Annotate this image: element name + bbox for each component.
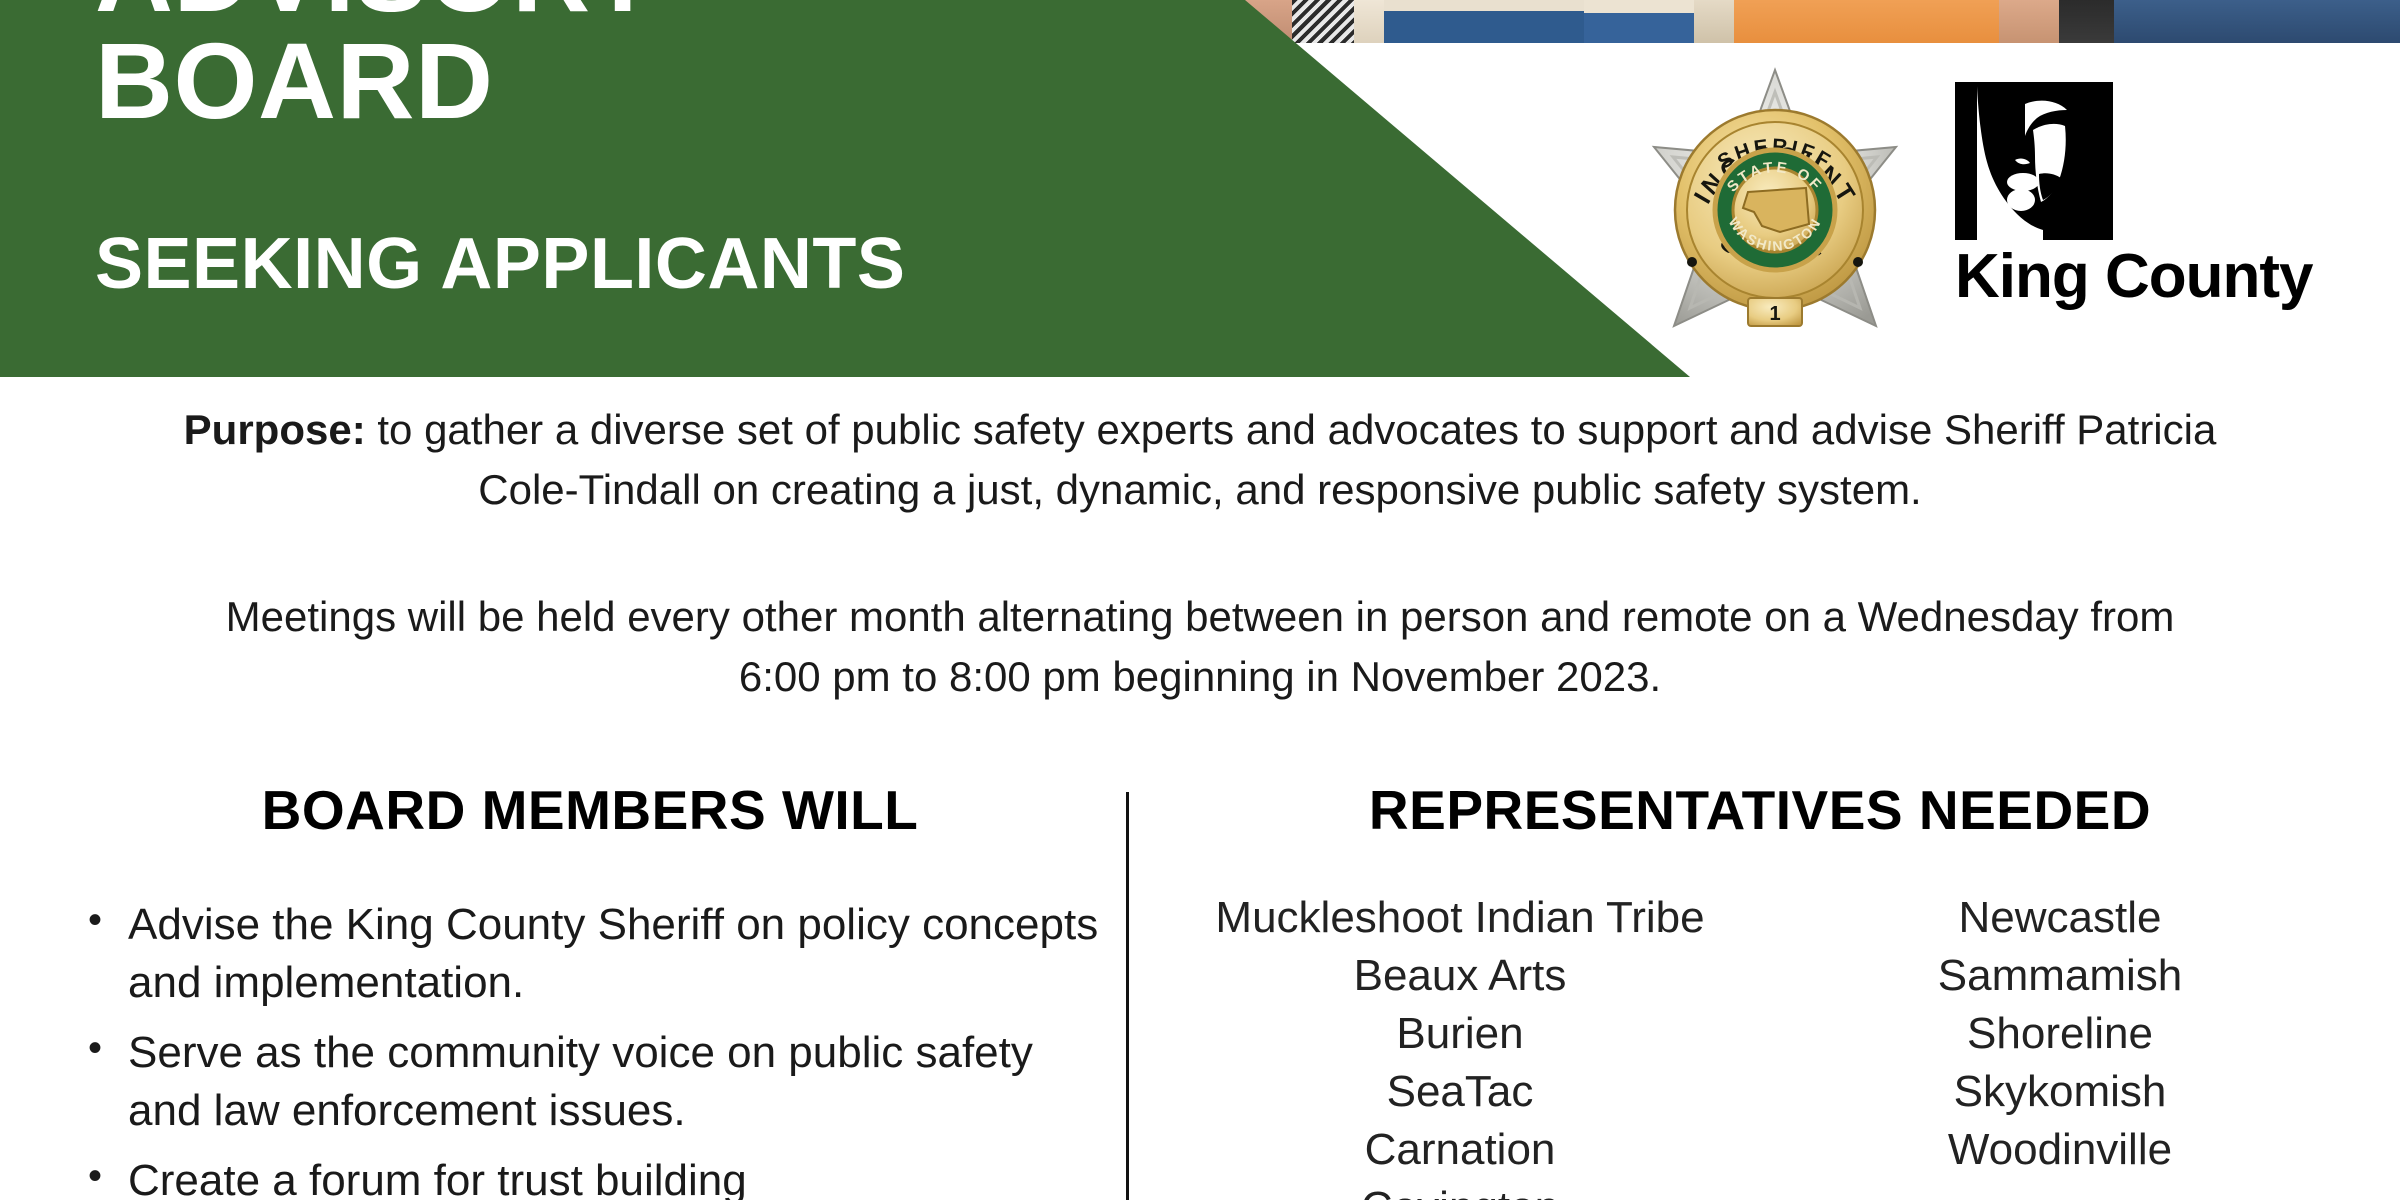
list-item: SeaTac — [1160, 1063, 1760, 1121]
list-item: Shoreline — [1760, 1005, 2360, 1063]
photo-segment — [1354, 0, 1384, 43]
photo-segment — [1584, 0, 1694, 43]
list-item: Sammamish — [1760, 947, 2360, 1005]
meeting-paragraph: Meetings will be held every other month … — [200, 587, 2200, 706]
photo-segment — [1999, 0, 2059, 43]
banner-heading-group: ADVISORY BOARD SEEKING APPLICANTS — [95, 0, 905, 305]
representatives-column: REPRESENTATIVES NEEDED Muckleshoot India… — [1160, 780, 2360, 1200]
representatives-title: REPRESENTATIVES NEEDED — [1160, 780, 2360, 841]
board-members-column: BOARD MEMBERS WILL Advise the King Count… — [80, 780, 1100, 1200]
representatives-column-1: Muckleshoot Indian Tribe Beaux Arts Buri… — [1160, 889, 1760, 1200]
photo-segment — [1384, 0, 1584, 43]
list-item: Muckleshoot Indian Tribe — [1160, 889, 1760, 947]
king-county-wordmark: King County — [1955, 246, 2355, 308]
list-item: Serve as the community voice on public s… — [80, 1024, 1100, 1140]
list-item: Carnation — [1160, 1121, 1760, 1179]
list-item: Woodinville — [1760, 1121, 2360, 1179]
list-item: Newcastle — [1760, 889, 2360, 947]
king-county-logo: King County — [1955, 82, 2355, 308]
photo-segment — [2114, 0, 2400, 43]
heading-board: BOARD — [95, 27, 905, 135]
purpose-label: Purpose: — [184, 406, 366, 453]
column-divider — [1126, 792, 1129, 1200]
representatives-column-2: Newcastle Sammamish Shoreline Skykomish … — [1760, 889, 2360, 1200]
list-item: Skykomish — [1760, 1063, 2360, 1121]
mlk-silhouette-icon — [1955, 82, 2113, 240]
list-item: Burien — [1160, 1005, 1760, 1063]
list-item: Advise the King County Sheriff on policy… — [80, 896, 1100, 1012]
photo-segment — [2059, 0, 2114, 43]
sheriff-badge-icon: SHERIFF KING COUNTY SHERIFF STATE OF WAS… — [1630, 62, 1920, 352]
photo-segment — [1694, 0, 1734, 43]
logo-row: SHERIFF KING COUNTY SHERIFF STATE OF WAS… — [1630, 62, 2370, 322]
representatives-lists: Muckleshoot Indian Tribe Beaux Arts Buri… — [1160, 889, 2360, 1200]
list-item: Create a forum for trust building — [80, 1152, 1100, 1200]
purpose-text: to gather a diverse set of public safety… — [366, 406, 2217, 513]
board-members-list: Advise the King County Sheriff on policy… — [80, 896, 1100, 1200]
purpose-paragraph: Purpose: to gather a diverse set of publ… — [160, 400, 2240, 519]
poster-canvas: ADVISORY BOARD SEEKING APPLICANTS — [0, 0, 2400, 1200]
people-photo-image — [1237, 0, 2400, 43]
heading-seeking-applicants: SEEKING APPLICANTS — [95, 223, 905, 305]
photo-segment — [1734, 0, 1999, 43]
king-county-mlk-mark-icon — [1955, 82, 2113, 240]
list-item: Covington — [1160, 1179, 1760, 1200]
svg-text:1: 1 — [1769, 303, 1780, 325]
people-photo-strip — [1237, 0, 2400, 43]
list-item: Beaux Arts — [1160, 947, 1760, 1005]
green-banner: ADVISORY BOARD SEEKING APPLICANTS — [0, 0, 1690, 377]
photo-segment — [1292, 0, 1354, 43]
sheriff-star-svg: SHERIFF KING COUNTY SHERIFF STATE OF WAS… — [1630, 62, 1920, 352]
board-members-title: BOARD MEMBERS WILL — [80, 780, 1100, 841]
